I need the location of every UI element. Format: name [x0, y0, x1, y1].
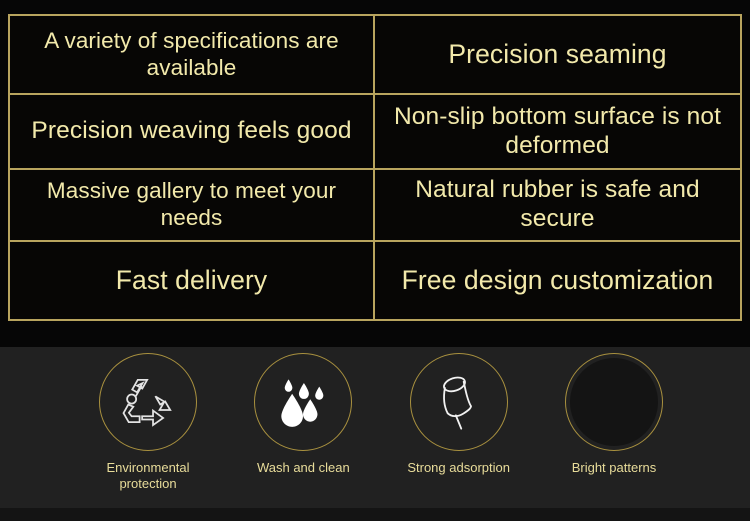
- table-row: Massive gallery to meet your needs Natur…: [10, 170, 740, 242]
- recycle-icon: [121, 376, 175, 428]
- icon-feature-panel: Environmental protection: [0, 347, 750, 508]
- icon-feature-label: Bright patterns: [572, 460, 657, 476]
- feature-table: A variety of specifications are availabl…: [8, 14, 742, 321]
- feature-cell-massive-gallery: Massive gallery to meet your needs: [10, 170, 375, 240]
- icon-feature-strong-adsorption: Strong adsorption: [387, 353, 531, 476]
- icon-circle: [254, 353, 352, 451]
- feature-cell-free-design: Free design customization: [375, 242, 740, 319]
- icon-feature-row: Environmental protection: [76, 353, 686, 503]
- feature-cell-natural-rubber: Natural rubber is safe and secure: [375, 170, 740, 240]
- icon-feature-wash-and-clean: Wash and clean: [231, 353, 375, 476]
- feature-cell-specifications: A variety of specifications are availabl…: [10, 16, 375, 93]
- icon-feature-environmental-protection: Environmental protection: [76, 353, 220, 492]
- icon-feature-label: Environmental protection: [78, 460, 218, 492]
- feature-cell-fast-delivery: Fast delivery: [10, 242, 375, 319]
- icon-feature-label: Wash and clean: [257, 460, 350, 476]
- feature-cell-non-slip-bottom: Non-slip bottom surface is not deformed: [375, 95, 740, 168]
- wheel-backdrop: [570, 358, 658, 446]
- table-row: A variety of specifications are availabl…: [10, 16, 740, 95]
- icon-circle: [99, 353, 197, 451]
- thumbtack-icon: [433, 374, 485, 430]
- icon-circle: [565, 353, 663, 451]
- icon-feature-bright-patterns: Bright patterns: [542, 353, 686, 476]
- icon-feature-label: Strong adsorption: [407, 460, 510, 476]
- feature-cell-precision-weaving: Precision weaving feels good: [10, 95, 375, 168]
- product-feature-banner: A variety of specifications are availabl…: [0, 0, 750, 521]
- table-row: Precision weaving feels good Non-slip bo…: [10, 95, 740, 170]
- icon-circle: [410, 353, 508, 451]
- feature-table-panel: A variety of specifications are availabl…: [0, 0, 750, 347]
- footer-strip: [0, 508, 750, 521]
- water-drops-icon: [274, 374, 332, 430]
- table-row: Fast delivery Free design customization: [10, 242, 740, 319]
- feature-cell-precision-seaming: Precision seaming: [375, 16, 740, 93]
